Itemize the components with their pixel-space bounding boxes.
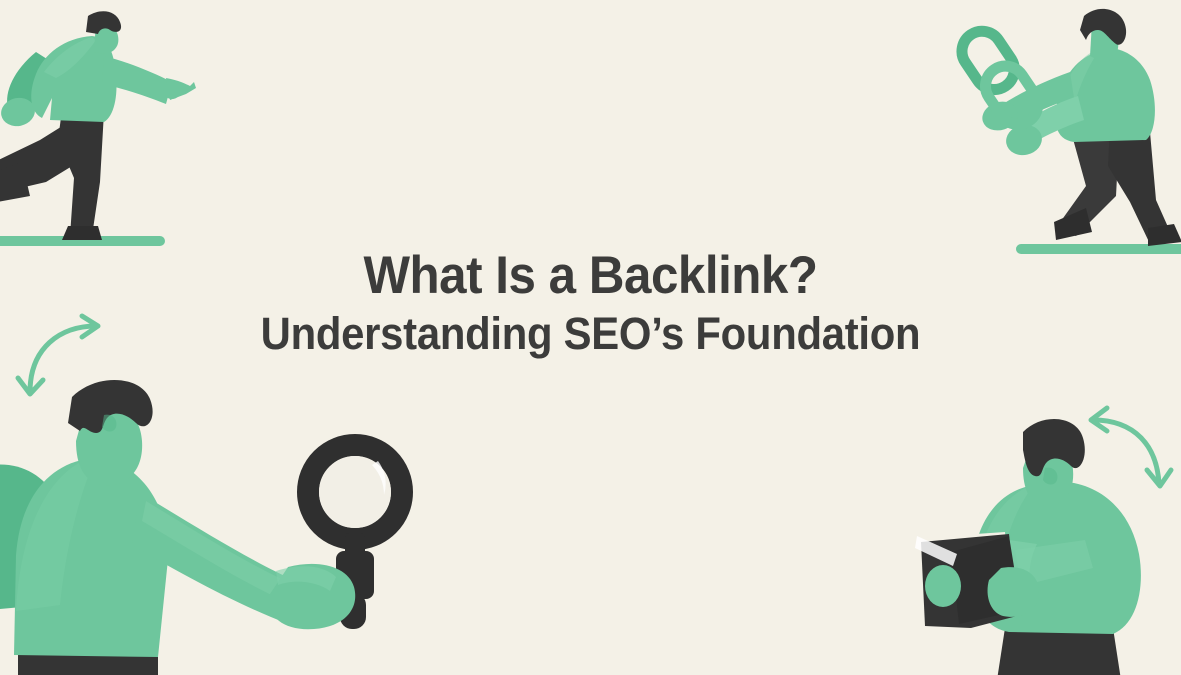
hands: [925, 565, 1039, 617]
carrying-arms: [979, 72, 1084, 158]
illustration-person-holding-magnifier: [0, 375, 430, 675]
back-arm: [0, 52, 58, 129]
back-shoulder: [0, 465, 56, 611]
page-subtitle: Understanding SEO’s Foundation: [41, 310, 1139, 359]
face: [94, 22, 118, 54]
hair: [68, 380, 153, 433]
face: [1090, 21, 1118, 62]
magnifier-neck: [345, 533, 365, 579]
illustration-person-pointing: [0, 0, 230, 255]
book-cover-right: [951, 536, 1021, 624]
trousers: [18, 651, 158, 675]
illustration-person-carrying-chain-links: [950, 0, 1181, 262]
magnifier-lens: [319, 456, 391, 528]
ear: [102, 415, 116, 432]
hand-upper: [979, 97, 1022, 135]
curved-double-arrow-right-icon: [1083, 402, 1175, 497]
magnifier-ring: [308, 445, 402, 539]
magnifier-handle: [336, 551, 374, 599]
face: [76, 402, 142, 485]
head: [68, 380, 153, 485]
magnifier-handle-tip: [340, 593, 366, 629]
hand-right: [988, 567, 1039, 617]
slide-canvas: What Is a Backlink? Understanding SEO’s …: [0, 0, 1181, 675]
back-leg: [1054, 120, 1120, 240]
front-leg: [58, 110, 104, 240]
magnifier: [308, 445, 402, 629]
face: [1023, 438, 1073, 507]
chain-links: [954, 24, 1045, 133]
book-cover-left: [921, 534, 1017, 628]
lens-highlight: [372, 461, 386, 495]
hand-left: [925, 565, 961, 607]
book-pages: [915, 536, 957, 566]
page-title: What Is a Backlink?: [41, 248, 1139, 304]
book: [915, 532, 1021, 630]
sleeve-fold: [1015, 540, 1093, 586]
sweater: [973, 482, 1141, 634]
back-leg: [0, 120, 95, 206]
hand-lower: [1003, 122, 1044, 159]
sweater: [31, 36, 116, 122]
ear: [1043, 468, 1057, 485]
fist: [268, 564, 355, 629]
pointing-arm: [102, 56, 196, 104]
front-leg: [1108, 126, 1181, 246]
ground-line: [0, 236, 165, 246]
hair: [1080, 9, 1126, 45]
head: [1080, 9, 1126, 62]
hair: [1023, 419, 1085, 476]
illustration-person-reading-book: [881, 390, 1181, 675]
hair: [86, 11, 121, 34]
sweater: [14, 457, 168, 657]
heading-block: What Is a Backlink? Understanding SEO’s …: [0, 248, 1181, 359]
sweater: [1056, 48, 1155, 142]
outstretched-arm: [132, 493, 296, 623]
head: [86, 11, 121, 54]
trousers: [997, 628, 1121, 675]
head: [1023, 419, 1085, 506]
left-arm: [996, 540, 1037, 598]
